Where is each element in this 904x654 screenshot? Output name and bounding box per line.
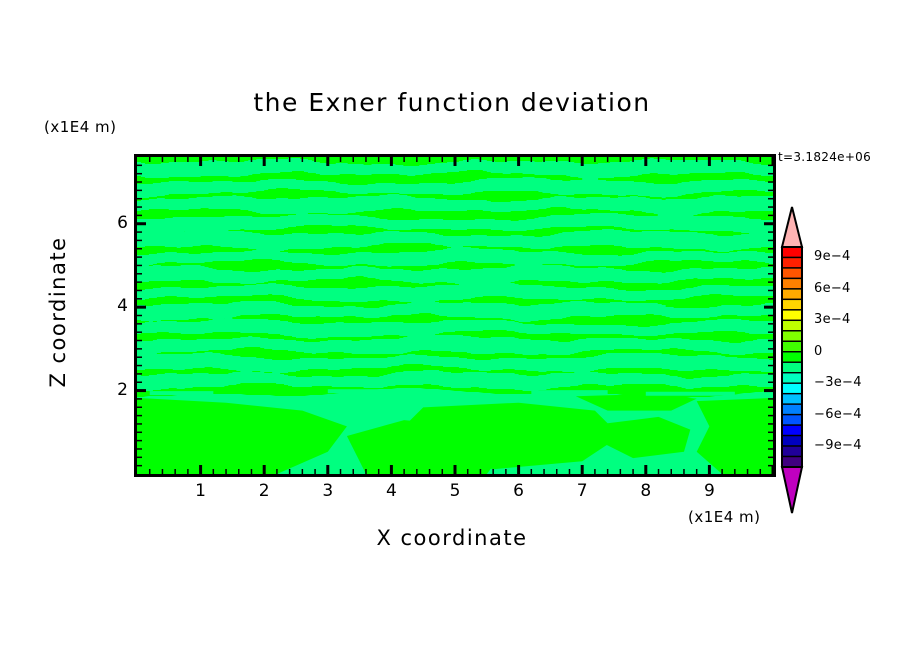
- y-tick-label: 2: [102, 380, 128, 400]
- x-axis-label: X coordinate: [0, 526, 904, 550]
- y-tick-label: 4: [102, 296, 128, 316]
- y-axis-label: Z coordinate: [46, 202, 70, 422]
- x-tick-label: 3: [313, 481, 343, 501]
- x-tick-label: 6: [504, 481, 534, 501]
- y-tick-label: 6: [102, 213, 128, 233]
- y-axis-units: (x1E4 m): [44, 118, 117, 136]
- colorbar-tick-label: −3e−4: [814, 375, 862, 390]
- contour-plot-area: [137, 157, 773, 474]
- colorbar-tick-label: 6e−4: [814, 281, 851, 296]
- x-tick-label: 4: [376, 481, 406, 501]
- colorbar-tick-label: 3e−4: [814, 312, 851, 327]
- page-title: the Exner function deviation: [0, 88, 904, 117]
- colorbar: [778, 205, 810, 515]
- x-tick-label: 2: [249, 481, 279, 501]
- x-tick-label: 5: [440, 481, 470, 501]
- contour-field: [137, 157, 773, 474]
- x-tick-label: 7: [567, 481, 597, 501]
- colorbar-tick-label: −6e−4: [814, 407, 862, 422]
- colorbar-tick-label: 0: [814, 344, 823, 359]
- colorbar-tick-label: 9e−4: [814, 249, 851, 264]
- x-axis-units: (x1E4 m): [688, 508, 761, 526]
- x-tick-label: 8: [631, 481, 661, 501]
- colorbar-tick-label: −9e−4: [814, 438, 862, 453]
- timestamp-annotation: t=3.1824e+06: [778, 150, 871, 164]
- x-tick-label: 9: [694, 481, 724, 501]
- x-tick-label: 1: [186, 481, 216, 501]
